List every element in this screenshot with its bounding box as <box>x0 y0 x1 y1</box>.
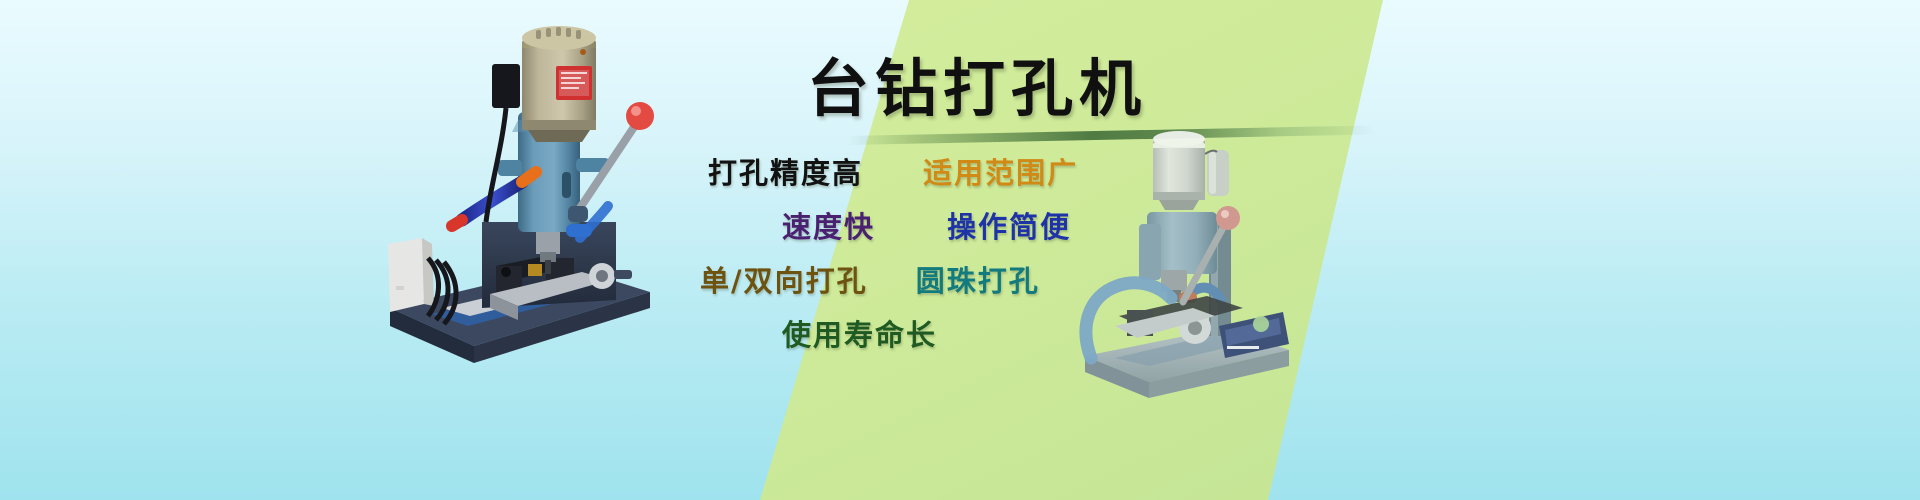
feature-row-2: 速度快 操作简便 <box>690 204 1110 246</box>
feature-item-2: 速度快 <box>782 204 875 246</box>
feature-row-4: 使用寿命长 <box>690 312 1110 354</box>
product-image-primary <box>370 8 670 368</box>
feature-item-0: 打孔精度高 <box>708 150 863 192</box>
promo-banner: 台钻打孔机 打孔精度高 适用范围广 速度快 操作简便 单/双向打孔 圆珠打孔 使… <box>0 0 1920 500</box>
banner-title: 台钻打孔机 <box>762 38 1192 128</box>
feature-item-1: 适用范围广 <box>923 150 1078 192</box>
feature-row-3: 单/双向打孔 圆珠打孔 <box>690 258 1110 300</box>
feature-item-3: 操作简便 <box>947 204 1071 246</box>
feature-item-5: 圆珠打孔 <box>916 258 1040 300</box>
feature-list: 打孔精度高 适用范围广 速度快 操作简便 单/双向打孔 圆珠打孔 使用寿命长 <box>690 138 1110 398</box>
feature-row-1: 打孔精度高 适用范围广 <box>690 150 1110 192</box>
feature-item-6: 使用寿命长 <box>782 312 937 354</box>
feature-item-4: 单/双向打孔 <box>700 258 868 300</box>
